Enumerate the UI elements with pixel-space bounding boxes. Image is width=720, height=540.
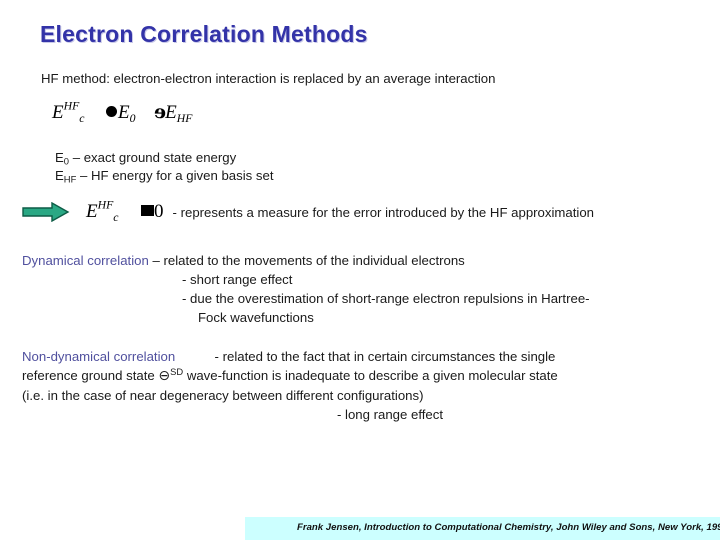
definition-e0-symbol: E [55,150,64,165]
intro-text: HF method: electron-electron interaction… [41,71,495,87]
non-dynamical-line-1-text: - related to the fact that in certain ci… [215,349,556,364]
equation-correlation-energy: EHFc E0 ɘEHF [52,101,192,124]
dynamical-correlation-block: Dynamical correlation – related to the m… [22,251,702,327]
citation-text: Frank Jensen, Introduction to Computatio… [297,522,720,533]
eq-term1-symbol: E [118,102,130,123]
not-equal-glyph-broken-icon [141,205,154,216]
non-dynamical-line-2-after: wave-function is inadequate to describe … [187,368,558,383]
eq-lhs-superscript: HF [64,100,80,113]
non-dynamical-line-2: reference ground state ⊖SD wave-function… [22,366,698,386]
definition-ehf-subscript: HF [64,174,77,185]
dynamical-bullet-2: - due the overestimation of short-range … [22,289,702,308]
non-dynamical-line-1: Non-dynamical correlation - related to t… [22,347,698,366]
highlight-row: EHFc 0 - represents a measure for the er… [22,201,594,223]
dynamical-bullet-1: - short range effect [22,270,702,289]
definition-e0: E0 – exact ground state energy [55,150,236,166]
eq-term2-subscript: HF [177,112,193,125]
non-dynamical-correlation-block: Non-dynamical correlation - related to t… [22,347,698,424]
dynamical-lead-line: Dynamical correlation – related to the m… [22,251,702,270]
eq-term1-subscript: 0 [130,112,136,125]
definition-e0-dash: – [73,150,80,165]
dynamical-bullet-3: Fock wavefunctions [22,308,702,327]
eq2-rhs-value: 0 [154,201,164,222]
dynamical-correlation-term: Dynamical correlation [22,253,149,268]
citation-bar: Frank Jensen, Introduction to Computatio… [245,517,720,540]
non-dynamical-correlation-term: Non-dynamical correlation [22,349,175,364]
non-dynamical-line-3: (i.e. in the case of near degeneracy bet… [22,386,698,405]
eq2-lhs-superscript: HF [98,199,114,212]
non-dynamical-line-4: - long range effect [22,405,698,424]
eq-lhs-subscript: c [79,112,84,125]
right-arrow-icon [22,202,70,222]
psi-glyph-broken-icon: ⊖ [158,368,170,384]
equation-note: - represents a measure for the error int… [173,205,594,220]
eq-lhs-symbol: E [52,102,64,123]
dynamical-lead-text: related to the movements of the individu… [163,253,464,268]
dynamical-dash: – [152,253,159,268]
equals-glyph-broken-icon [106,106,117,117]
equation-nonzero-condition: EHFc 0 [86,201,164,223]
non-dynamical-line-2-before: reference ground state [22,368,155,383]
eq2-lhs-subscript: c [113,211,118,224]
definition-e0-subscript: 0 [64,156,69,167]
definition-ehf-symbol: E [55,168,64,183]
definition-ehf-text: HF energy for a given basis set [91,168,274,183]
psi-superscript: SD [170,366,183,377]
eq-term2-symbol: E [165,102,177,123]
definition-ehf: EHF – HF energy for a given basis set [55,168,274,184]
page-title: Electron Correlation Methods [40,21,368,48]
eq2-lhs-symbol: E [86,201,98,222]
definition-ehf-dash: – [80,168,87,183]
definition-e0-text: exact ground state energy [84,150,237,165]
